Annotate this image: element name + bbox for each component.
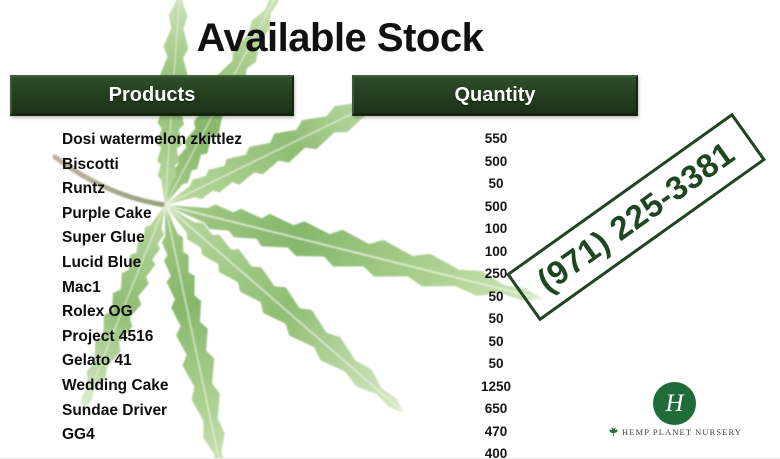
- product-row: Project 4516: [62, 325, 242, 350]
- quantity-row: 500: [465, 151, 527, 174]
- product-row: Purple Cake: [62, 202, 242, 227]
- quantity-row: 50: [465, 331, 527, 354]
- product-row: Runtz: [62, 177, 242, 202]
- product-row: Sundae Driver: [62, 399, 242, 424]
- logo-wordmark-text: HEMP PLANET NURSERY: [622, 427, 742, 437]
- quantity-row: 500: [465, 196, 527, 219]
- phone-number-text: (971) 225-3381: [530, 134, 741, 300]
- product-row: GG4: [62, 423, 242, 448]
- products-column: Dosi watermelon zkittlez Biscotti Runtz …: [62, 128, 242, 448]
- product-row: Mac1: [62, 276, 242, 301]
- quantity-row: 1250: [465, 376, 527, 399]
- phone-number-badge: (971) 225-3381: [506, 113, 766, 322]
- product-row: Gelato 41: [62, 349, 242, 374]
- available-stock-poster: Available Stock Products Quantity Dosi w…: [0, 0, 780, 459]
- column-header-quantity: Quantity: [352, 75, 638, 116]
- product-row: Lucid Blue: [62, 251, 242, 276]
- quantity-row: 50: [465, 353, 527, 376]
- quantity-row: 100: [465, 218, 527, 241]
- product-row: Super Glue: [62, 226, 242, 251]
- quantity-row: 400: [465, 443, 527, 459]
- quantities-column: 550 500 50 500 100 100 250 50 50 50 50 1…: [465, 128, 527, 459]
- product-row: Rolex OG: [62, 300, 242, 325]
- page-title: Available Stock: [0, 16, 680, 61]
- quantity-row: 50: [465, 173, 527, 196]
- quantity-row: 100: [465, 241, 527, 264]
- column-header-products: Products: [10, 75, 294, 116]
- logo-wordmark-row: HEMP PLANET NURSERY: [608, 426, 768, 437]
- quantity-row: 650: [465, 398, 527, 421]
- product-row: Wedding Cake: [62, 374, 242, 399]
- product-row: Dosi watermelon zkittlez: [62, 128, 242, 153]
- logo-monogram-letter: H: [665, 391, 683, 416]
- product-row: Biscotti: [62, 153, 242, 178]
- quantity-row: 50: [465, 308, 527, 331]
- quantity-row: 470: [465, 421, 527, 444]
- leaf-icon: [608, 426, 619, 437]
- hemp-planet-nursery-logo: H HEMP PLANET NURSERY: [608, 382, 768, 444]
- quantity-row: 550: [465, 128, 527, 151]
- logo-monogram-circle: H: [653, 382, 696, 425]
- column-header-quantity-label: Quantity: [454, 84, 535, 107]
- column-header-products-label: Products: [109, 84, 196, 107]
